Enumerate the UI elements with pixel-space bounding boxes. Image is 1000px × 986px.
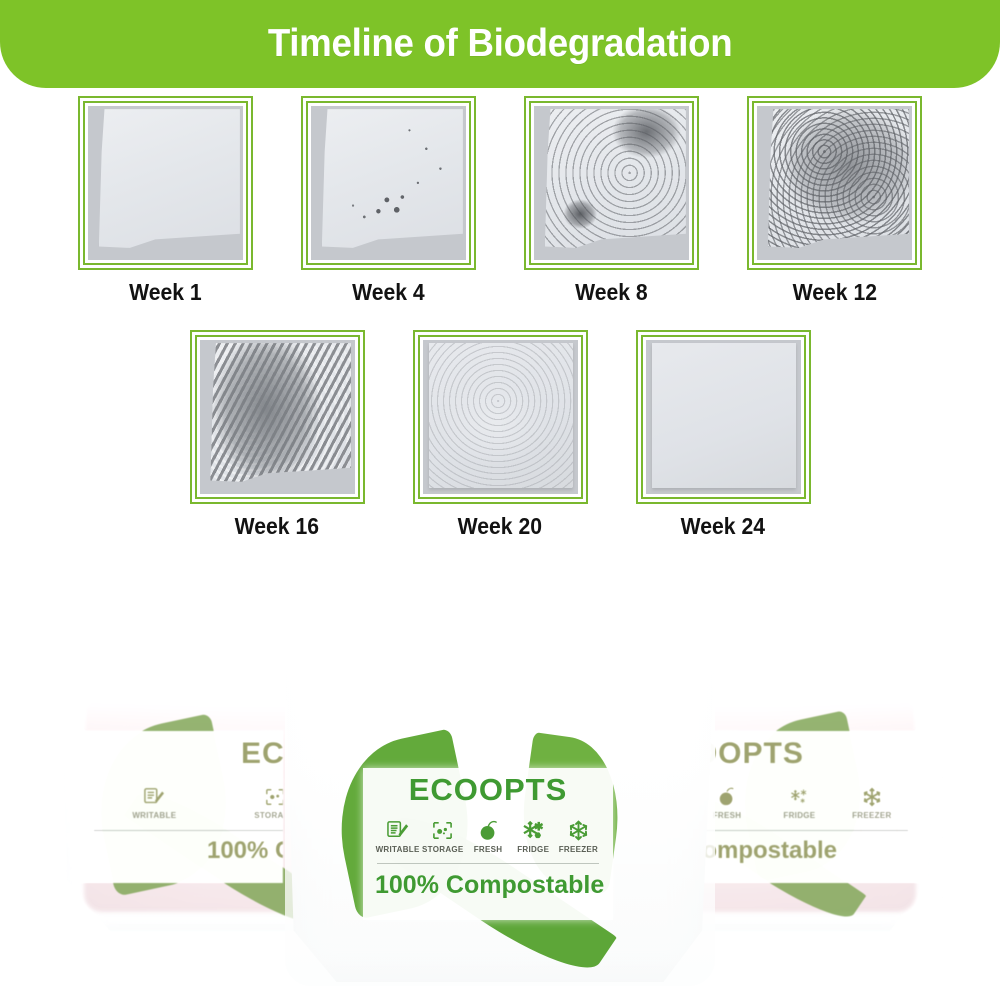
feature-freezer: FREEZER — [556, 820, 601, 854]
timeline-caption: Week 8 — [575, 279, 648, 306]
freezer-icon — [861, 787, 883, 811]
degradation-photo-week-8 — [534, 106, 689, 260]
storage-icon — [264, 787, 286, 811]
feature-row: WRITABLE STORAGE — [375, 820, 601, 854]
feature-freezer: FREEZER — [836, 787, 908, 820]
timeline-caption: Week 4 — [352, 279, 425, 306]
feature-writable: WRITABLE — [94, 787, 215, 820]
writable-icon — [386, 820, 409, 845]
degradation-photo-week-16 — [200, 340, 355, 494]
degradation-photo-week-20 — [423, 340, 578, 494]
photo-frame — [524, 96, 699, 270]
photo-frame-inner — [306, 101, 471, 265]
freezer-icon — [567, 820, 590, 845]
feature-fridge: FRIDGE — [511, 820, 556, 854]
photo-frame-inner — [529, 101, 694, 265]
photo-frame — [413, 330, 588, 504]
header-banner: Timeline of Biodegradation — [0, 0, 1000, 88]
timeline-row-2: Week 16 Week 20 Week 24 — [0, 330, 1000, 540]
photo-frame-inner — [418, 335, 583, 499]
feature-label: FRIDGE — [783, 811, 815, 820]
photo-frame-inner — [641, 335, 806, 499]
fridge-icon — [522, 820, 545, 845]
brand-name: ECOOPTS — [375, 772, 601, 808]
timeline-cell-week-16[interactable]: Week 16 — [190, 330, 365, 540]
feature-storage: STORAGE — [420, 820, 465, 854]
storage-icon — [431, 820, 454, 845]
feature-label: FRIDGE — [517, 845, 549, 854]
feature-label: FREEZER — [559, 845, 598, 854]
photo-frame — [301, 96, 476, 270]
timeline-row-1: Week 1 Week 4 Week 8 — [0, 96, 1000, 306]
feature-label: FRESH — [713, 811, 742, 820]
product-bag-center[interactable]: ECOOPTS WRITABLE — [285, 590, 715, 986]
feature-label: WRITABLE — [132, 811, 176, 820]
timeline-cell-week-8[interactable]: Week 8 — [524, 96, 699, 306]
bag-zipper — [302, 610, 698, 619]
photo-frame — [78, 96, 253, 270]
degradation-photo-week-24 — [646, 340, 801, 494]
photo-frame-inner — [752, 101, 917, 265]
feature-label: FRESH — [474, 845, 503, 854]
timeline-cell-week-20[interactable]: Week 20 — [413, 330, 588, 540]
timeline-cell-week-4[interactable]: Week 4 — [301, 96, 476, 306]
photo-frame-inner — [83, 101, 248, 265]
feature-fresh: FRESH — [465, 820, 510, 854]
feature-label: FREEZER — [852, 811, 891, 820]
photo-frame — [636, 330, 811, 504]
timeline-caption: Week 12 — [792, 279, 876, 306]
writable-icon — [143, 787, 165, 811]
fresh-icon — [477, 820, 500, 845]
photo-frame — [190, 330, 365, 504]
degradation-photo-week-12 — [757, 106, 912, 260]
timeline-caption: Week 1 — [129, 279, 202, 306]
fresh-icon — [716, 787, 738, 811]
label-divider — [377, 863, 599, 864]
degradation-photo-week-1 — [88, 106, 243, 260]
degradation-photo-week-4 — [311, 106, 466, 260]
timeline-cell-week-12[interactable]: Week 12 — [747, 96, 922, 306]
feature-fridge: FRIDGE — [763, 787, 835, 820]
feature-label: STORAGE — [422, 845, 464, 854]
feature-label: WRITABLE — [376, 845, 420, 854]
compostable-claim: 100% Compostable — [375, 871, 601, 900]
timeline-cell-week-1[interactable]: Week 1 — [78, 96, 253, 306]
photo-frame-inner — [195, 335, 360, 499]
biodegradation-timeline: Week 1 Week 4 Week 8 — [0, 96, 1000, 540]
product-photo: ECO WRITABLE — [0, 535, 1000, 986]
page-title: Timeline of Biodegradation — [268, 22, 733, 66]
timeline-cell-week-24[interactable]: Week 24 — [636, 330, 811, 540]
feature-writable: WRITABLE — [375, 820, 420, 854]
bag-label: ECOOPTS WRITABLE — [363, 768, 613, 920]
photo-frame — [747, 96, 922, 270]
fridge-icon — [788, 787, 810, 811]
